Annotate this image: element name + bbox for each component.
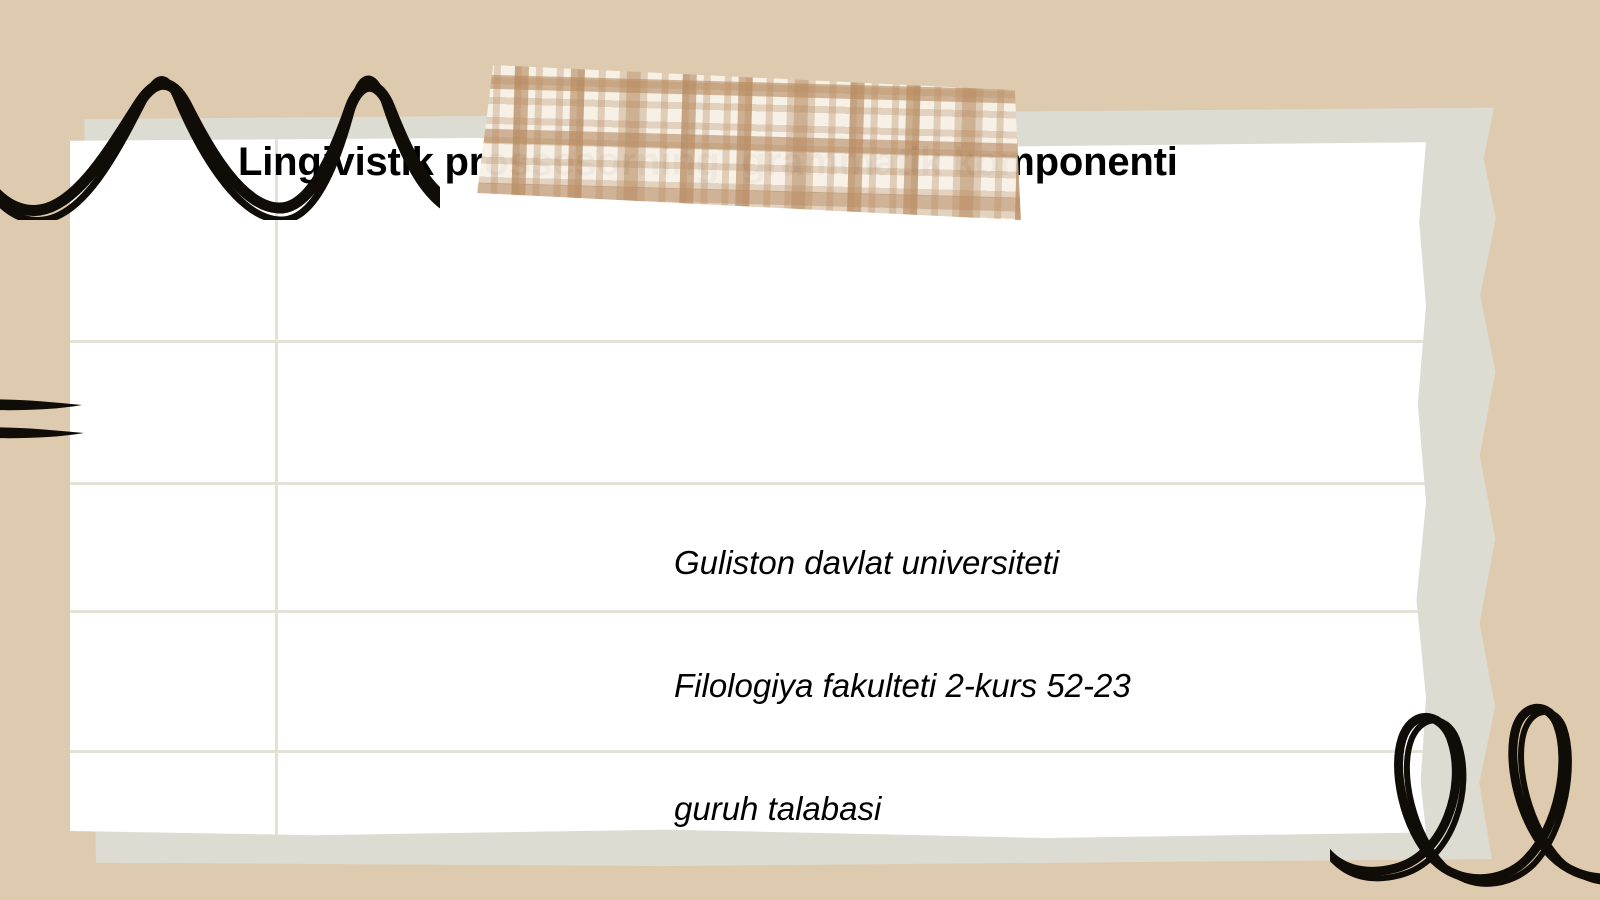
slide-canvas: Lingivistik prossesorning grammatik komp…	[0, 0, 1600, 900]
author-block: Guliston davlat universiteti Filologiya …	[674, 460, 1131, 900]
author-line-faculty: Filologiya fakulteti 2-kurs 52-23	[674, 665, 1131, 706]
rule-line-1	[70, 340, 1426, 343]
author-line-group: guruh talabasi	[674, 788, 1131, 829]
author-line-university: Guliston davlat universiteti	[674, 542, 1131, 583]
margin-rule-line	[275, 138, 278, 838]
